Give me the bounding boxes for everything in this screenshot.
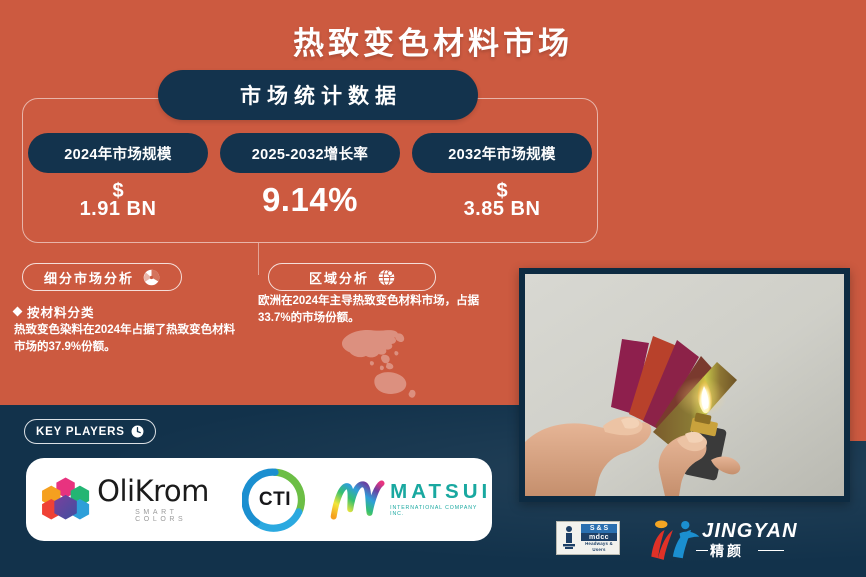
key-players-logo-panel: OliKrom SMART COLORS CTI — [26, 458, 492, 541]
badge-top-text: S & S — [581, 524, 617, 533]
jingyan-chinese: 精颜 — [710, 541, 744, 561]
product-photo-frame — [519, 268, 850, 502]
matsui-tagline: INTERNATIONAL COMPANY INC. — [390, 505, 492, 517]
pie-chart-icon — [143, 269, 160, 286]
segment-analysis-pill: 细分市场分析 — [22, 263, 182, 291]
stats-divider — [258, 243, 259, 275]
segment-analysis-body: 热致变色染料在2024年占据了热致变色材料市场的37.9%份额。 — [14, 322, 242, 355]
stat-label: 2025-2032增长率 — [220, 133, 400, 173]
logo-matsui: MATSUI INTERNATIONAL COMPANY INC. — [330, 476, 492, 524]
jingyan-logo: JINGYAN 精颜 — [648, 517, 808, 563]
stat-card-2024: 2024年市场规模 $ 1.91 BN — [28, 133, 208, 219]
matsui-name: MATSUI — [390, 482, 492, 503]
key-players-pill: KEY PLAYERS — [24, 419, 156, 444]
diamond-bullet-icon — [13, 307, 23, 317]
world-map-asia-pacific-icon — [330, 325, 440, 403]
stat-value: $ 3.85 BN — [464, 181, 541, 219]
regional-analysis-body: 欧洲在2024年主导热致变色材料市场，占据33.7%的市场份额。 — [258, 293, 506, 326]
stat-label: 2032年市场规模 — [412, 133, 592, 173]
cti-name: CTI — [248, 489, 302, 511]
stat-card-cagr: 2025-2032增长率 9.14% — [220, 133, 400, 219]
segment-subheading: 按材料分类 — [27, 302, 95, 321]
stat-row: 2024年市场规模 $ 1.91 BN 2025-2032增长率 9.14% 2… — [28, 133, 592, 219]
badge-caption: Headways & Users — [581, 541, 617, 552]
badge-mid-text: mdcc — [581, 533, 617, 542]
badge-figure-icon — [559, 524, 579, 552]
segment-subheading-row: 按材料分类 — [14, 302, 95, 321]
thermochromic-strips-photo — [525, 274, 844, 496]
rainbow-m-icon — [330, 476, 385, 524]
stat-label: 2024年市场规模 — [28, 133, 208, 173]
olikrom-name: OliKrom — [97, 477, 218, 506]
partner-badge-logo: S & S mdcc Headways & Users — [556, 521, 620, 555]
logo-olikrom: OliKrom SMART COLORS — [40, 471, 218, 529]
regional-analysis-label: 区域分析 — [309, 268, 369, 287]
stat-card-2032: 2032年市场规模 $ 3.85 BN — [412, 133, 592, 219]
hexagon-cluster-icon — [40, 471, 91, 529]
jingyan-rule-right — [758, 550, 784, 551]
stat-value: $ 1.91 BN — [80, 181, 157, 219]
key-players-label: KEY PLAYERS — [36, 426, 125, 438]
jingyan-rule-left — [696, 550, 708, 551]
stat-amount: 1.91 BN — [80, 199, 157, 219]
stat-amount: 9.14% — [262, 183, 358, 216]
page-title: 热致变色材料市场 — [0, 18, 866, 63]
olikrom-tagline: SMART COLORS — [135, 509, 218, 523]
badge-text-block: S & S mdcc Headways & Users — [581, 524, 617, 552]
regional-analysis-pill: 区域分析 — [268, 263, 436, 291]
stats-section-title: 市场统计数据 — [158, 70, 478, 120]
logo-cti: CTI — [242, 467, 308, 533]
segment-analysis-label: 细分市场分析 — [44, 268, 134, 287]
infographic-root: 热致变色材料市场 市场统计数据 2024年市场规模 $ 1.91 BN 2025… — [0, 0, 866, 577]
globe-icon — [378, 269, 395, 286]
stat-value: 9.14% — [262, 183, 358, 216]
jingyan-figure-icon — [648, 518, 706, 562]
jingyan-name: JINGYAN — [702, 520, 798, 543]
arrow-circle-icon — [131, 425, 144, 438]
matsui-text: MATSUI INTERNATIONAL COMPANY INC. — [390, 482, 492, 518]
stat-amount: 3.85 BN — [464, 199, 541, 219]
olikrom-text: OliKrom SMART COLORS — [97, 477, 218, 523]
